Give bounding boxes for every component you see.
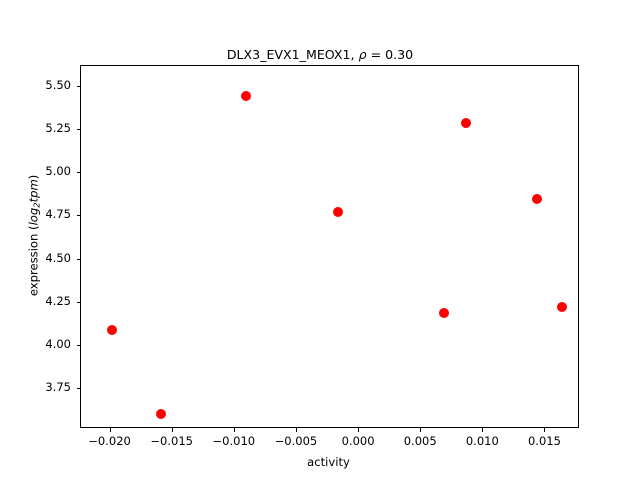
y-axis-tick — [77, 86, 81, 87]
chart-title-gene-label: DLX3_EVX1_MEOX1, — [227, 47, 359, 62]
scatter-point — [557, 302, 567, 312]
scatter-point — [439, 308, 449, 318]
y-axis-label-suffix: ) — [27, 175, 41, 180]
x-axis-tick-label: 0.015 — [504, 434, 584, 448]
x-axis-tick — [110, 428, 111, 432]
y-axis-tick — [77, 388, 81, 389]
scatter-plot-figure: DLX3_EVX1_MEOX1, ρ = 0.30 hg19_v2_chr17_… — [0, 0, 640, 480]
y-axis-tick — [77, 215, 81, 216]
scatter-point — [156, 409, 166, 419]
y-axis-label: expression (log2tpm) — [27, 75, 42, 395]
y-axis-label-log: log — [27, 208, 41, 226]
x-axis-tick — [544, 428, 545, 432]
plot-area — [81, 66, 578, 427]
y-axis-tick — [77, 129, 81, 130]
chart-title-line-1: DLX3_EVX1_MEOX1, ρ = 0.30 — [0, 46, 640, 63]
x-axis-tick — [358, 428, 359, 432]
x-axis-tick — [234, 428, 235, 432]
x-axis-label: activity — [80, 455, 577, 469]
scatter-point — [333, 207, 343, 217]
y-axis-tick — [77, 345, 81, 346]
plot-axes-frame: −0.020−0.015−0.010−0.0050.0000.0050.0100… — [80, 65, 579, 428]
x-axis-tick — [296, 428, 297, 432]
y-axis-label-prefix: expression ( — [27, 225, 41, 296]
scatter-point — [532, 194, 542, 204]
scatter-point — [461, 118, 471, 128]
y-axis-label-tpm: tpm — [27, 179, 41, 202]
scatter-point — [241, 91, 251, 101]
x-axis-tick — [482, 428, 483, 432]
rho-value: = 0.30 — [367, 47, 414, 62]
rho-symbol: ρ — [359, 47, 367, 62]
y-axis-tick — [77, 172, 81, 173]
scatter-point — [107, 325, 117, 335]
y-axis-tick — [77, 302, 81, 303]
x-axis-tick — [420, 428, 421, 432]
y-axis-tick — [77, 259, 81, 260]
y-axis-label-subscript: 2 — [31, 202, 41, 207]
x-axis-tick — [172, 428, 173, 432]
